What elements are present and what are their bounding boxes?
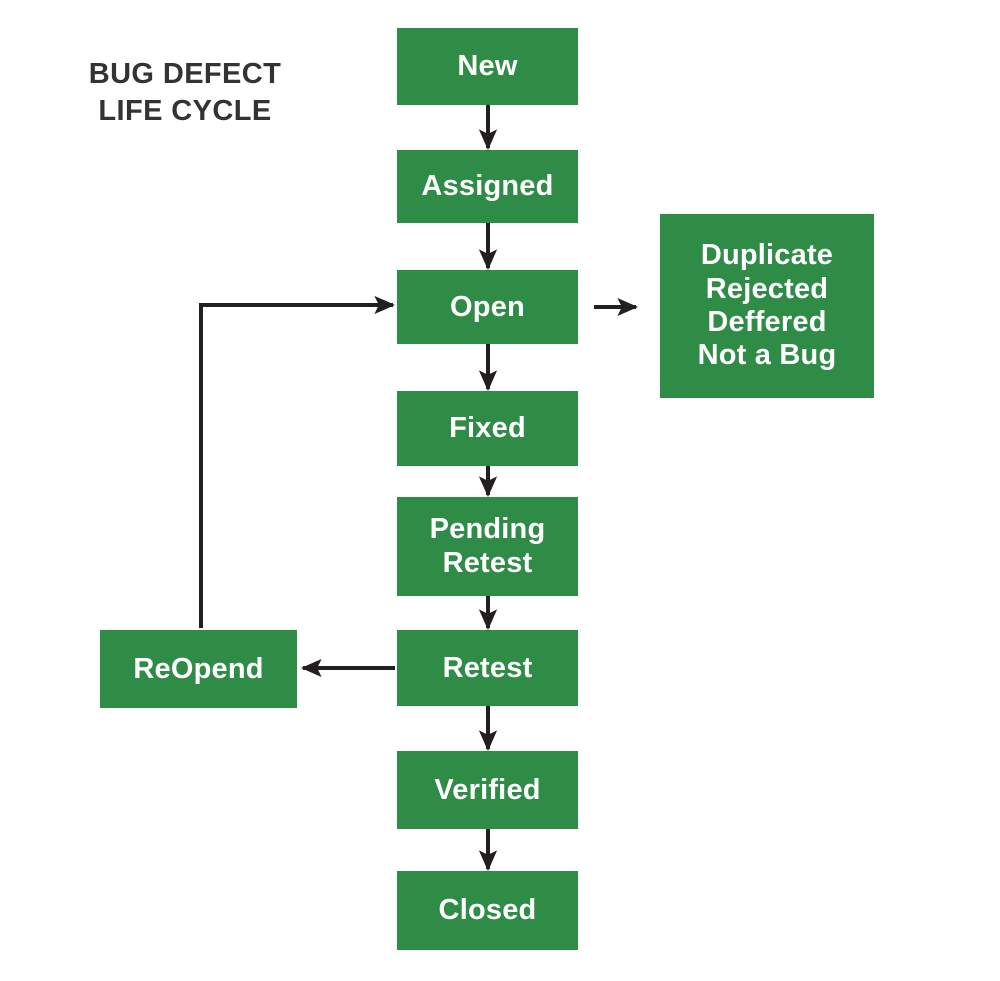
edge-layer — [0, 0, 1000, 981]
node-pending-retest[interactable]: Pending Retest — [397, 497, 578, 596]
node-verified[interactable]: Verified — [397, 751, 578, 829]
node-assigned[interactable]: Assigned — [397, 150, 578, 223]
diagram-canvas: BUG DEFECT LIFE CYCLE New Assigned Open … — [0, 0, 1000, 981]
node-duplicate-rejected-deffered-not-a-bug[interactable]: Duplicate Rejected Deffered Not a Bug — [660, 214, 874, 398]
node-open[interactable]: Open — [397, 270, 578, 344]
node-retest[interactable]: Retest — [397, 630, 578, 706]
node-new[interactable]: New — [397, 28, 578, 105]
node-reopend[interactable]: ReOpend — [100, 630, 297, 708]
node-fixed[interactable]: Fixed — [397, 391, 578, 466]
node-closed[interactable]: Closed — [397, 871, 578, 950]
edge-reopend-open — [201, 305, 393, 628]
page-title: BUG DEFECT LIFE CYCLE — [40, 56, 330, 130]
